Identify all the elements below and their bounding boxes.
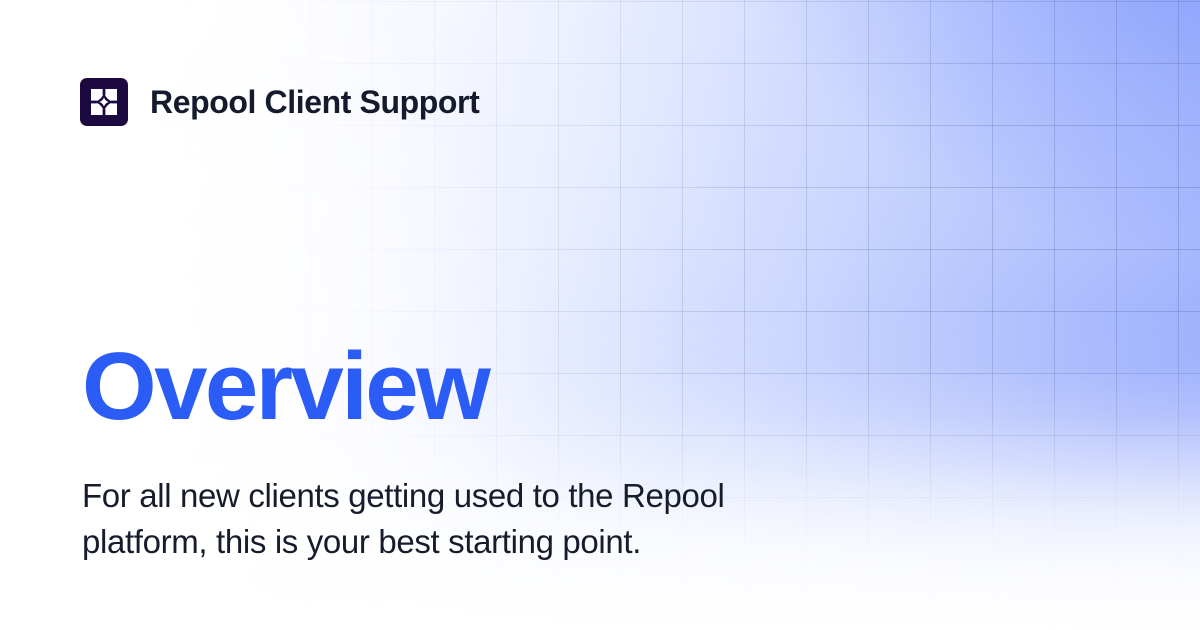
page-title: Overview — [82, 339, 982, 435]
page-subtitle-line-2: platform, this is your best starting poi… — [82, 519, 872, 565]
hero-block: Overview For all new clients getting use… — [82, 339, 982, 564]
repool-target-star-icon — [88, 86, 120, 118]
brand-title: Repool Client Support — [150, 86, 479, 118]
og-banner: Repool Client Support Overview For all n… — [0, 0, 1200, 630]
page-subtitle-line-1: For all new clients getting used to the … — [82, 473, 872, 519]
banner-content: Repool Client Support Overview For all n… — [0, 0, 1200, 630]
page-subtitle: For all new clients getting used to the … — [82, 473, 872, 564]
brand-header: Repool Client Support — [80, 78, 479, 126]
brand-logo — [80, 78, 128, 126]
